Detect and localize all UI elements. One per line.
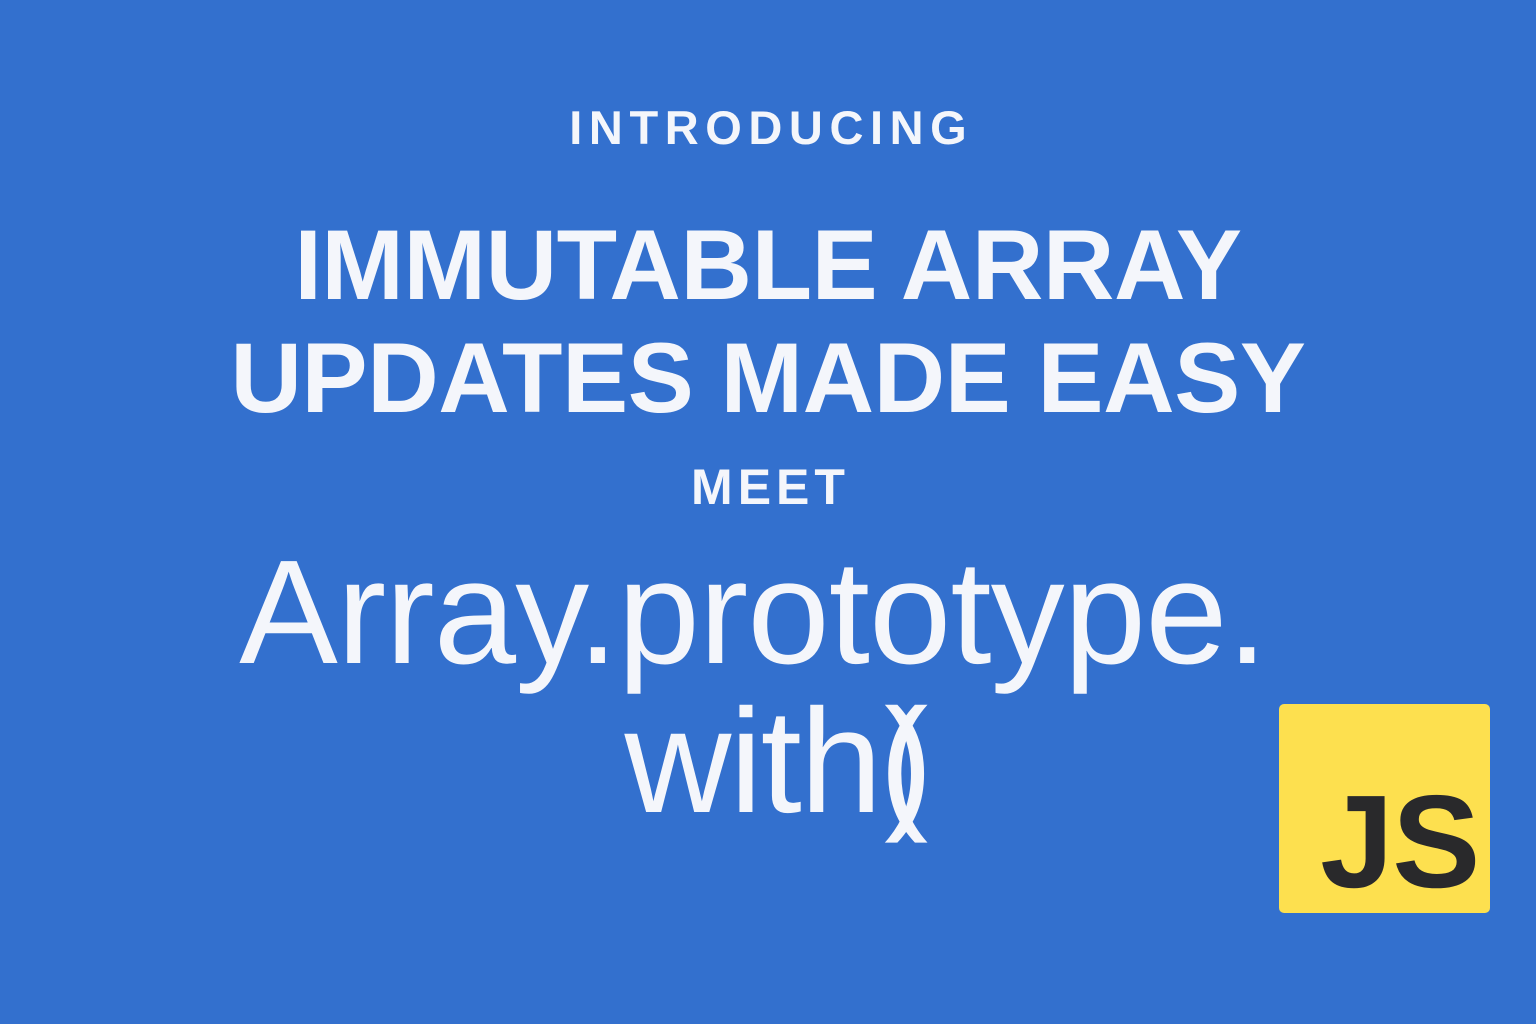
api-parentheses: () [879,679,910,844]
headline-line-1: IMMUTABLE ARRAY [0,215,1536,314]
headline-line-2: UPDATES MADE EASY [0,328,1536,427]
eyebrow-introducing: INTRODUCING [0,104,1536,151]
api-method-word: with [624,679,880,844]
eyebrow-meet: MEET [0,462,1536,512]
javascript-logo-label: JS [1320,776,1479,908]
poster-canvas: INTRODUCING IMMUTABLE ARRAY UPDATES MADE… [0,0,1536,1024]
javascript-logo: JS [1279,704,1490,913]
api-name-line-1: Array.prototype. [0,539,1536,687]
